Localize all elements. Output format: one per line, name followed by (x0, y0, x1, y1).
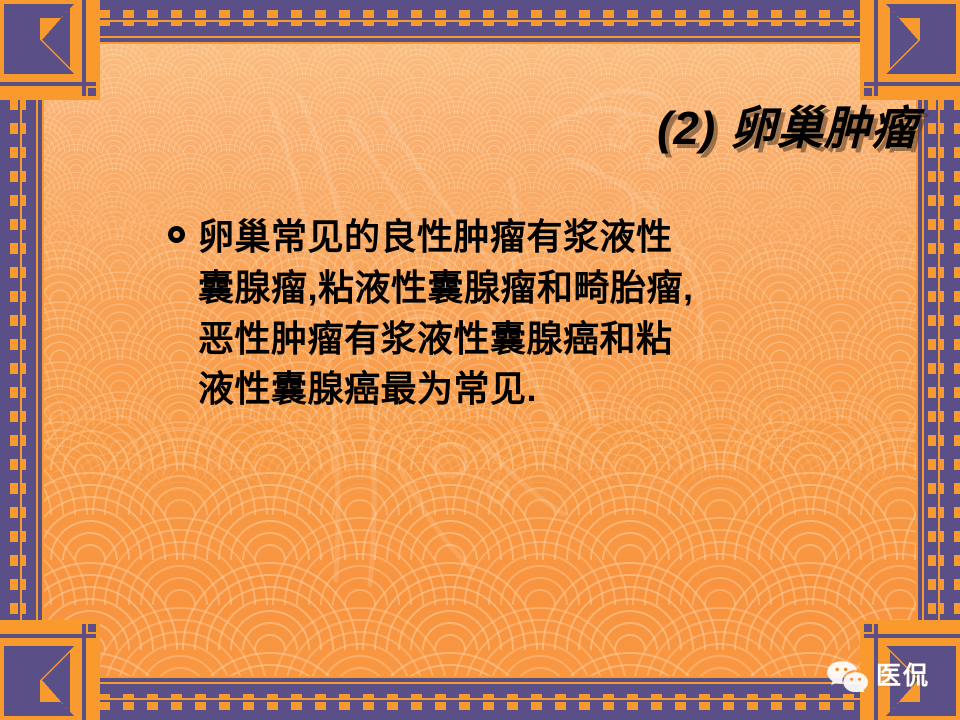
bullet-list-item: 卵巢常见的良性肿瘤有浆液性 囊腺瘤,粘液性囊腺瘤和畸胎瘤, 恶性肿瘤有浆液性囊腺… (168, 212, 808, 415)
wechat-icon (826, 660, 870, 692)
body-line: 卵巢常见的良性肿瘤有浆液性 (198, 212, 694, 263)
slide-title: (2) 卵巢肿瘤 (657, 92, 918, 158)
wechat-watermark: 医侃 (826, 660, 930, 692)
body-line: 液性囊腺癌最为常见. (198, 364, 694, 415)
bullet-circle-icon (168, 226, 185, 243)
slide-canvas: (2) 卵巢肿瘤 卵巢常见的良性肿瘤有浆液性 囊腺瘤,粘液性囊腺瘤和畸胎瘤, 恶… (0, 0, 960, 720)
body-line: 恶性肿瘤有浆液性囊腺癌和粘 (198, 314, 694, 365)
background-fan-pattern-large (0, 380, 960, 720)
watermark-label: 医侃 (876, 664, 930, 689)
body-line: 囊腺瘤,粘液性囊腺瘤和畸胎瘤, (198, 263, 694, 314)
body-paragraph: 卵巢常见的良性肿瘤有浆液性 囊腺瘤,粘液性囊腺瘤和畸胎瘤, 恶性肿瘤有浆液性囊腺… (198, 212, 694, 415)
